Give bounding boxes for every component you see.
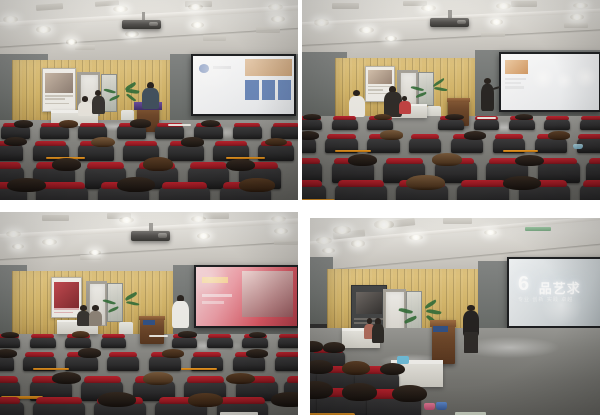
slide-photo [505, 60, 529, 75]
lecture-hall-scene [0, 0, 298, 200]
audience-head [265, 138, 288, 147]
poster-image [45, 73, 73, 92]
ceiling-light [351, 240, 366, 247]
audience-head [392, 385, 426, 402]
writing-tablet [33, 368, 68, 370]
poster-text-line [45, 103, 69, 105]
audience-head [302, 131, 319, 140]
projector [122, 20, 161, 30]
audience-head [0, 349, 17, 358]
ceiling-light [316, 237, 332, 244]
slide-photo [245, 59, 292, 75]
person-assistant [371, 318, 386, 342]
ceiling-vent [80, 255, 101, 260]
screen-surface: 6 品艺求 专业 创新 实践 卓越 [509, 259, 600, 326]
audience-head [323, 342, 345, 353]
slide-photo [242, 271, 293, 317]
ceiling-light [36, 26, 51, 33]
seat-row [0, 348, 298, 372]
photo-panel-top-right[interactable] [302, 0, 600, 200]
exit-sign [525, 227, 551, 231]
audience-head [59, 120, 78, 128]
projection-screen: 6 品艺求 专业 创新 实践 卓越 [507, 257, 600, 328]
audience-head [380, 363, 405, 376]
projection-screen [499, 52, 600, 112]
ceiling-light [12, 244, 24, 249]
person-presenter [140, 82, 161, 108]
ceiling-light [3, 16, 18, 23]
ceiling-light [484, 230, 497, 235]
projection-screen [191, 54, 296, 116]
writing-tablet [302, 199, 335, 200]
ceiling-light [374, 220, 394, 228]
audience-head [310, 360, 333, 374]
ceiling-light [314, 19, 329, 25]
seat-row [0, 180, 298, 200]
ceiling-vent [36, 3, 63, 11]
audience-head [246, 349, 269, 358]
ceiling-light [359, 27, 374, 33]
audience-head [52, 372, 81, 384]
ceiling-vent [256, 27, 280, 32]
audience-head [226, 373, 255, 384]
podium-plate [143, 320, 155, 325]
ceiling-vent [203, 213, 230, 219]
ceiling-vent [481, 32, 505, 37]
audience-head [342, 383, 376, 401]
audience-head [380, 130, 403, 139]
ceiling-light [119, 217, 134, 223]
notebook [168, 124, 191, 126]
audience-head [4, 137, 27, 146]
seat-row [0, 395, 298, 415]
person-assistant [86, 305, 104, 325]
screen-surface [193, 56, 294, 114]
audience-head [72, 331, 90, 338]
audience-head [432, 153, 463, 166]
water-bottle [436, 402, 447, 410]
notebook [149, 335, 168, 336]
ceiling-vent [274, 240, 298, 245]
audience-head [14, 120, 33, 127]
ceiling-light [409, 235, 424, 241]
audience-head [201, 120, 220, 127]
notebook [477, 117, 496, 118]
audience-head [143, 372, 174, 385]
ceiling-light [89, 250, 101, 255]
lecture-hall-scene: 6 品艺求 专业 创新 实践 卓越 [310, 218, 600, 415]
audience-head [78, 348, 101, 357]
ceiling-light [322, 248, 335, 254]
audience-head [239, 178, 274, 191]
ceiling-light [197, 233, 210, 239]
podium-plate [433, 326, 448, 332]
poster-image [368, 70, 392, 84]
ceiling-vent [75, 45, 96, 50]
audience-head [348, 154, 377, 166]
ceiling-light [125, 31, 138, 37]
podium-top [447, 98, 470, 102]
ceiling-light [496, 3, 511, 9]
audience-head [445, 114, 464, 121]
audience-head [52, 158, 81, 171]
audience-head [342, 361, 370, 375]
ceiling-light [490, 19, 503, 25]
poster-text-line [45, 95, 73, 97]
ceiling-light [191, 22, 204, 28]
person-assistant [89, 90, 107, 114]
poster-image [356, 292, 382, 314]
photo-panel-bottom-left[interactable] [0, 212, 298, 415]
audience-head [130, 119, 151, 127]
audience-head [188, 393, 223, 407]
projector-lens [149, 22, 158, 26]
slide-content-box [278, 80, 291, 100]
person-presenter [478, 78, 497, 110]
ceiling-vent [42, 215, 69, 222]
photo-panel-top-left[interactable] [0, 0, 298, 200]
projector [430, 18, 469, 27]
slide-big-number: 6 [518, 274, 529, 294]
ceiling-light [42, 239, 57, 246]
ceiling-light [573, 3, 588, 9]
audience-head [117, 177, 156, 192]
poster-text-line [45, 98, 65, 100]
projection-screen [194, 265, 298, 328]
ceiling-vent [203, 35, 227, 40]
audience-head [464, 131, 487, 140]
screen-surface [501, 54, 599, 110]
ceiling-shadow [302, 28, 600, 48]
photo-panel-bottom-right[interactable]: 6 品艺求 专业 创新 实践 卓越 [310, 218, 600, 415]
audience-head [271, 392, 298, 406]
audience-head [143, 157, 174, 171]
seat-row [302, 112, 600, 132]
writing-tablet [181, 368, 216, 370]
audience-head [406, 175, 445, 190]
audience-head [503, 176, 542, 190]
audience-head [1, 332, 19, 338]
ceiling-light [66, 39, 78, 44]
audience-head [178, 331, 197, 338]
ceiling-light [191, 216, 206, 222]
seat-row [310, 383, 600, 415]
wall-poster [42, 68, 77, 112]
ceiling-light [421, 5, 436, 11]
audience-head [162, 349, 185, 358]
ceiling-light [570, 14, 583, 20]
audience-head [7, 178, 46, 192]
ceiling-light [188, 4, 203, 10]
screen-surface [196, 267, 297, 326]
audience-head [303, 114, 321, 120]
ceiling-light [333, 226, 350, 234]
audience-head [181, 137, 204, 146]
seat-row [302, 130, 600, 154]
person-presenter [170, 295, 191, 327]
projector-lens [457, 20, 466, 24]
ceiling-vent [332, 3, 359, 9]
seat-row [302, 178, 600, 200]
projector-lens [158, 233, 167, 237]
audience-head [515, 155, 544, 166]
slide-content-box [262, 80, 275, 100]
audience-head [548, 131, 571, 139]
projector [131, 231, 170, 240]
ceiling-vent [511, 1, 538, 7]
ceiling-light [113, 6, 128, 12]
slide-content-box [245, 80, 258, 100]
audience-head [91, 137, 115, 147]
water-bottle [573, 144, 583, 149]
writing-tablet [335, 150, 370, 152]
audience-head [249, 332, 267, 338]
ceiling-light [271, 16, 284, 22]
water-bottle [424, 403, 435, 410]
ceiling-light [274, 228, 287, 234]
ceiling-vent [564, 23, 588, 28]
lecture-hall-scene [0, 212, 298, 415]
lecture-hall-scene [302, 0, 600, 200]
ceiling-vent [443, 218, 472, 224]
photo-collage: 6 品艺求 专业 创新 实践 卓越 [0, 0, 600, 415]
seat-row [0, 330, 298, 350]
writing-tablet [503, 150, 538, 152]
audience-head [98, 392, 137, 407]
audience-head [226, 159, 255, 171]
